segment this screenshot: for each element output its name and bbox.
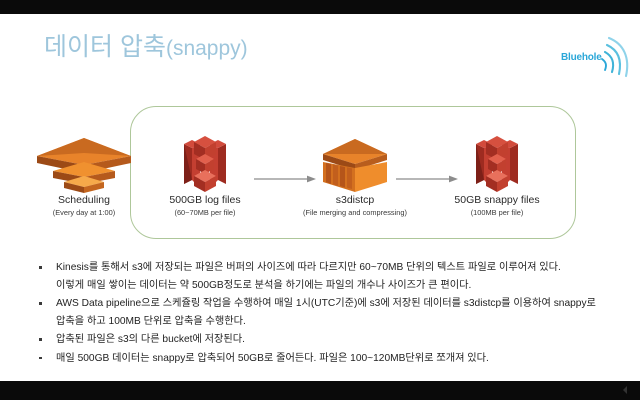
bullet-dot-icon: [39, 266, 42, 269]
bluehole-logo: Bluehole: [560, 36, 634, 86]
next-slide-marker-icon[interactable]: [622, 386, 629, 394]
node-label: Scheduling: [19, 194, 149, 207]
node-sublabel: (Every day at 1:00): [19, 207, 149, 218]
presentation-slide: 데이터 압축(snappy) Bluehole: [0, 14, 640, 381]
page-title-latin: (snappy): [166, 37, 248, 60]
bullet-line: AWS Data pipeline으로 스케쥴링 작업을 수행하여 매일 1시(…: [56, 295, 626, 313]
letterbox-top: [0, 0, 640, 14]
aws-s3-bucket-icon: [432, 132, 562, 194]
bullet-dot-icon: [39, 302, 42, 305]
node-sublabel: (File merging and compressing): [290, 207, 420, 218]
node-sublabel: (60~70MB per file): [140, 207, 270, 218]
letterbox-bottom: [0, 381, 640, 400]
node-label: 50GB snappy files: [432, 194, 562, 207]
slide-viewport: 데이터 압축(snappy) Bluehole: [0, 0, 640, 400]
aws-s3-bucket-icon: [140, 132, 270, 194]
diagram-node-log-files: 500GB log files (60~70MB per file): [140, 132, 270, 218]
bullet-list: Kinesis를 통해서 s3에 저장되는 파일은 버퍼의 사이즈에 따라 다르…: [30, 259, 626, 368]
list-item: Kinesis를 통해서 s3에 저장되는 파일은 버퍼의 사이즈에 따라 다르…: [30, 259, 626, 294]
aws-emr-icon: [290, 132, 420, 194]
bullet-line: 이렇게 매일 쌓이는 데이터는 약 500GB정도로 분석을 하기에는 파일의 …: [56, 277, 626, 295]
list-item: AWS Data pipeline으로 스케쥴링 작업을 수행하여 매일 1시(…: [30, 295, 626, 330]
list-item: 압축된 파일은 s3의 다른 bucket에 저장된다.: [30, 331, 626, 349]
diagram-node-snappy-files: 50GB snappy files (100MB per file): [432, 132, 562, 218]
list-item: 매일 500GB 데이터는 snappy로 압축되어 50GB로 줄어든다. 파…: [30, 350, 626, 368]
logo-wordmark: Bluehole: [561, 52, 602, 63]
bullet-line: Kinesis를 통해서 s3에 저장되는 파일은 버퍼의 사이즈에 따라 다르…: [56, 259, 626, 277]
aws-data-pipeline-icon: [19, 132, 149, 194]
node-label: s3distcp: [290, 194, 420, 207]
node-sublabel: (100MB per file): [432, 207, 562, 218]
diagram-node-scheduling: Scheduling (Every day at 1:00): [19, 132, 149, 218]
bullet-dot-icon: [39, 357, 42, 360]
node-label: 500GB log files: [140, 194, 270, 207]
bullet-line: 압축을 하고 100MB 단위로 압축을 수행한다.: [56, 313, 626, 331]
page-title: 데이터 압축(snappy): [44, 32, 248, 64]
bullet-line: 압축된 파일은 s3의 다른 bucket에 저장된다.: [56, 331, 626, 349]
bullet-dot-icon: [39, 338, 42, 341]
page-title-korean: 데이터 압축: [44, 33, 166, 61]
bullet-line: 매일 500GB 데이터는 snappy로 압축되어 50GB로 줄어든다. 파…: [56, 350, 626, 368]
